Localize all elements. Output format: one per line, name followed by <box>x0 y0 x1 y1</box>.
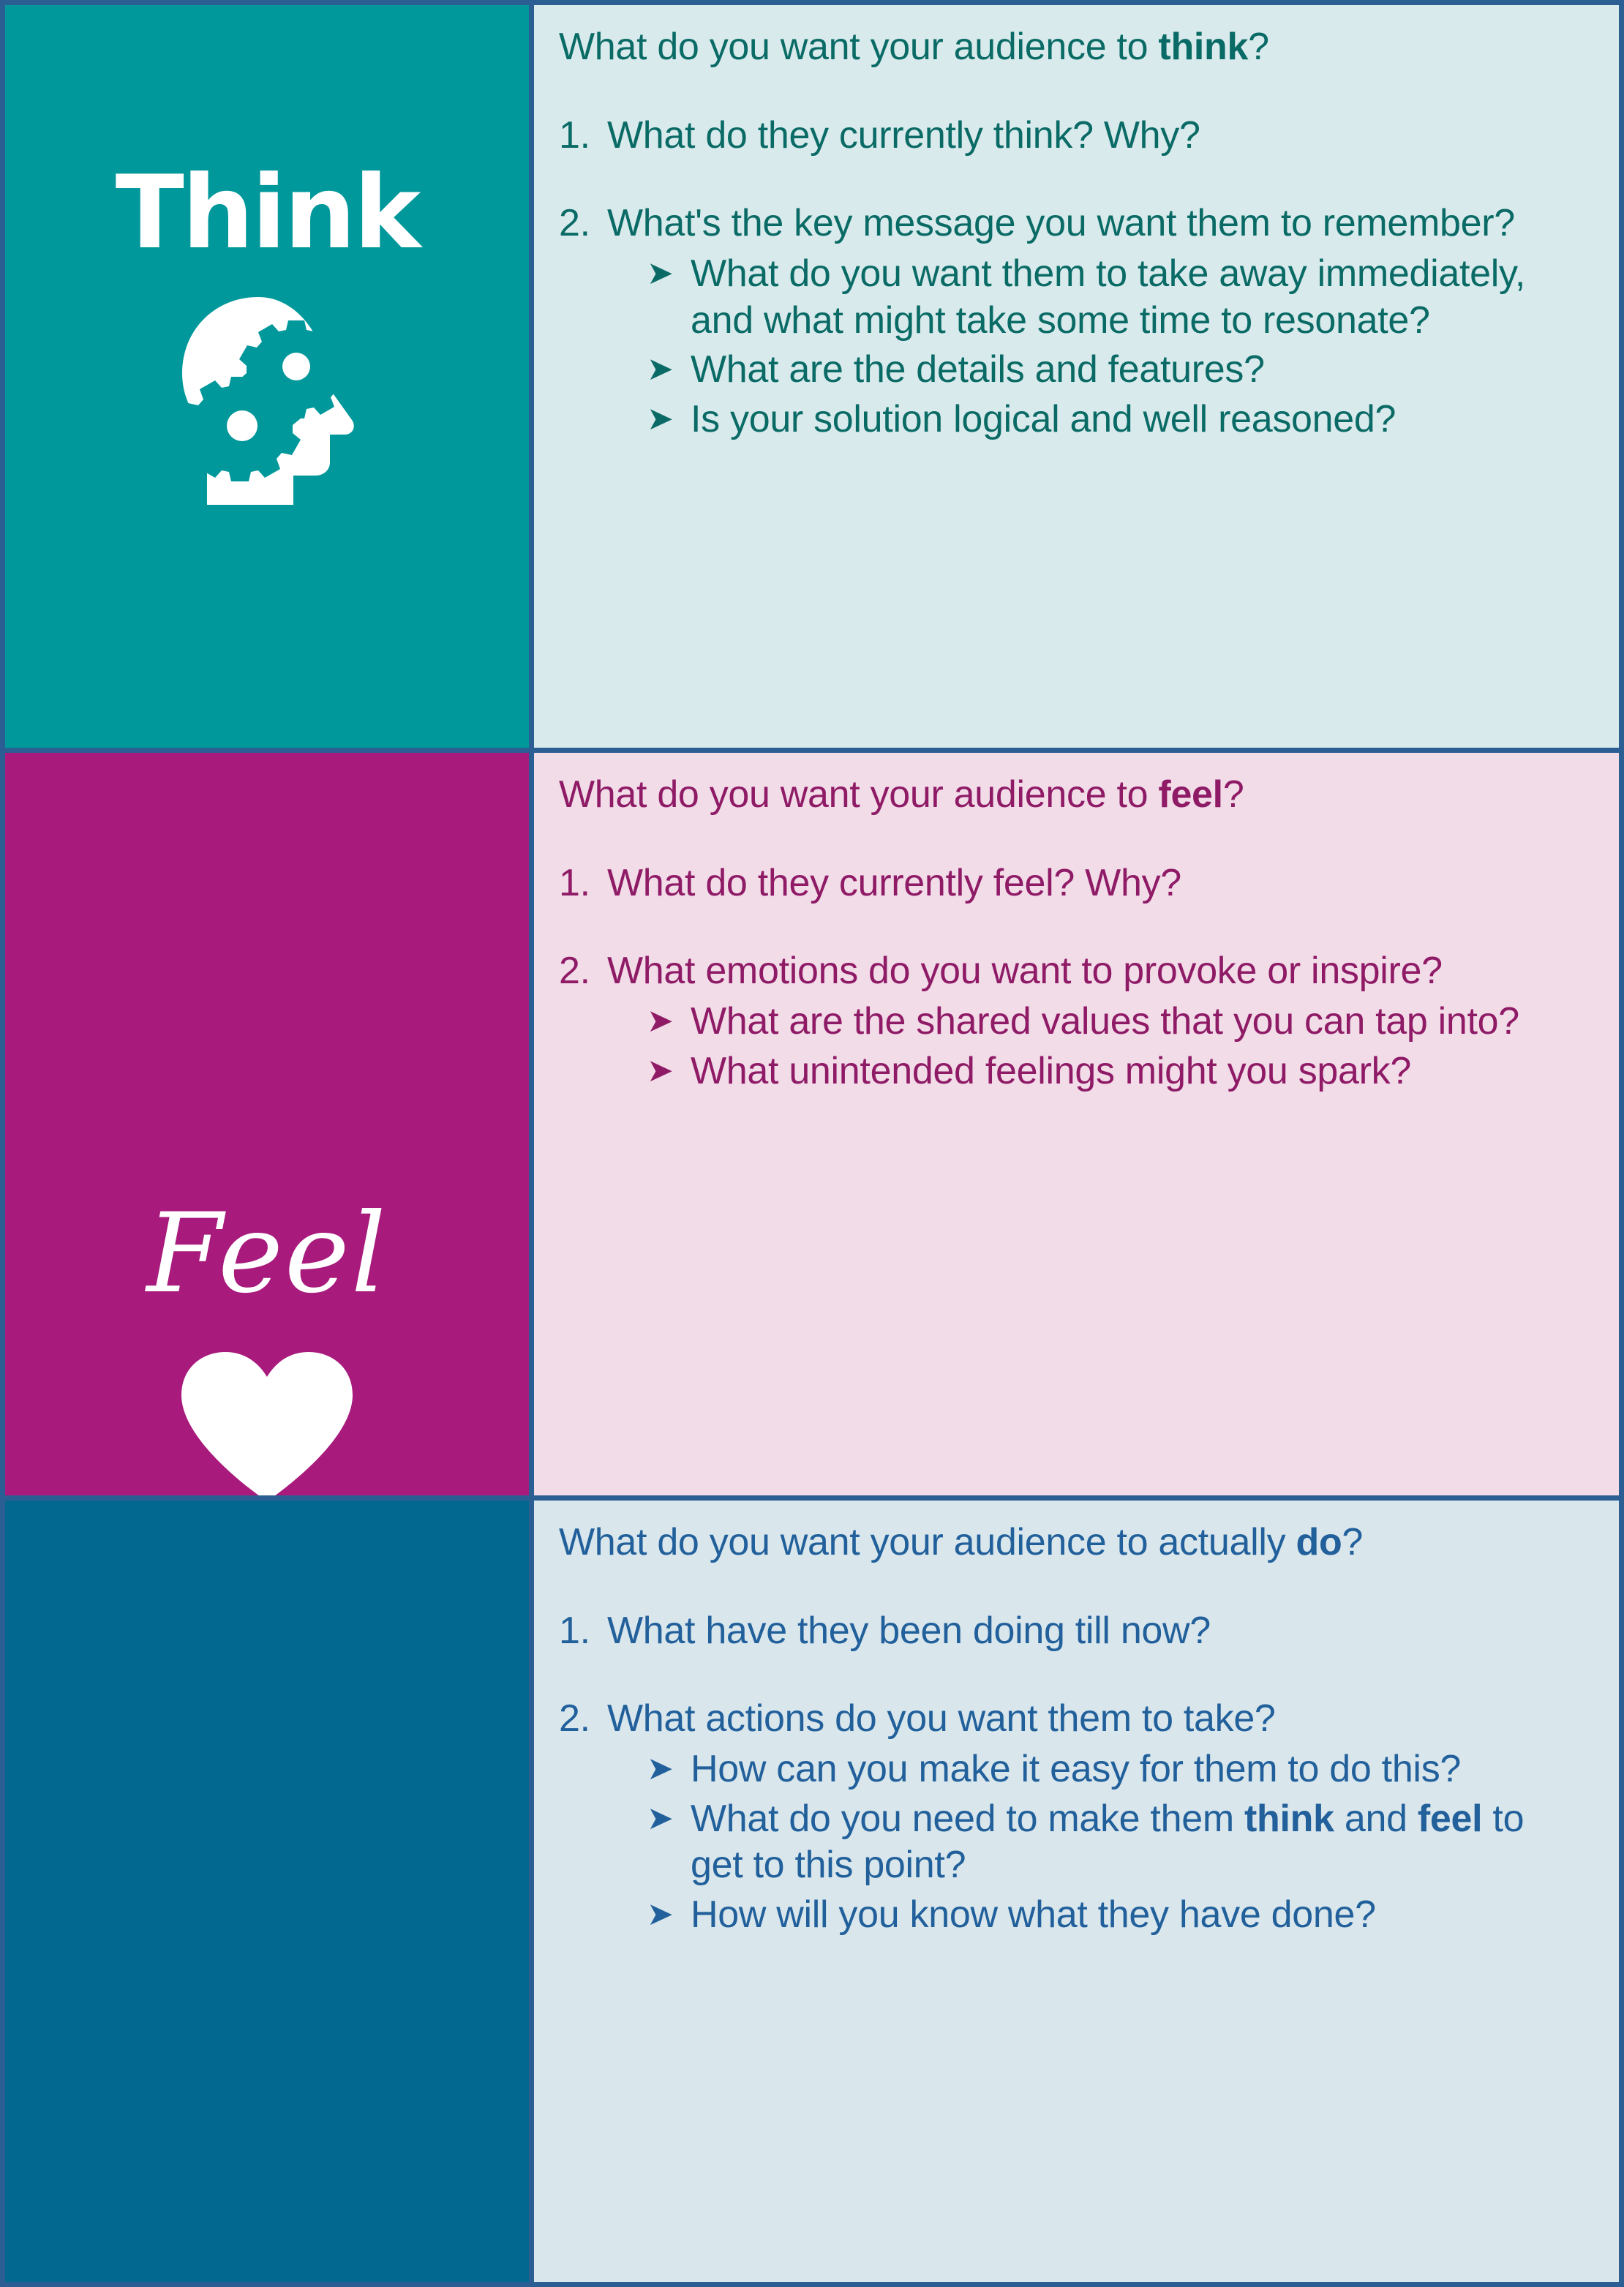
feel-lead-keyword: feel <box>1158 773 1222 816</box>
arrow-bullet-icon: ➤ <box>647 347 691 393</box>
think-question-list: 1. What do they currently think? Why? 2.… <box>559 113 1585 443</box>
list-item: 2. What actions do you want them to take… <box>559 1696 1585 1938</box>
do-item-2-number: 2. <box>559 1696 607 1938</box>
arrow-bullet-icon: ➤ <box>647 1048 691 1094</box>
feel-lead: What do you want your audience to feel? <box>559 772 1585 818</box>
arrow-bullet-icon: ➤ <box>647 1746 691 1792</box>
think-item-1-text: What do they currently think? Why? <box>607 113 1585 159</box>
think-sub-1: What do you want them to take away immed… <box>691 251 1585 344</box>
feel-item-1-number: 1. <box>559 860 607 906</box>
feel-item-1-text: What do they currently feel? Why? <box>607 860 1585 906</box>
list-item: ➤ How will you know what they have done? <box>647 1892 1585 1938</box>
feel-item-2-number: 2. <box>559 948 607 1094</box>
feel-sub-1: What are the shared values that you can … <box>691 999 1585 1045</box>
think-sub-3: Is your solution logical and well reason… <box>691 397 1585 443</box>
think-lead: What do you want your audience to think? <box>559 24 1585 70</box>
do-sub-1: How can you make it easy for them to do … <box>691 1746 1585 1792</box>
do-lead-suffix: ? <box>1342 1521 1363 1563</box>
think-item-2-number: 2. <box>559 200 607 443</box>
feel-lead-prefix: What do you want your audience to <box>559 773 1158 816</box>
feel-question-list: 1. What do they currently feel? Why? 2. … <box>559 860 1585 1094</box>
list-item: 2. What emotions do you want to provoke … <box>559 948 1585 1094</box>
think-item-2-sublist: ➤ What do you want them to take away imm… <box>607 251 1585 443</box>
think-badge: Think <box>5 5 534 748</box>
list-item: 1. What do they currently think? Why? <box>559 113 1585 159</box>
think-item-2-body: What's the key message you want them to … <box>607 200 1585 443</box>
arrow-bullet-icon: ➤ <box>647 397 691 443</box>
do-lead-prefix: What do you want your audience to actual… <box>559 1521 1296 1563</box>
section-feel: Feel What do you want your audience to f… <box>5 753 1619 1501</box>
do-question-list: 1. What have they been doing till now? 2… <box>559 1608 1585 1938</box>
arrow-bullet-icon: ➤ <box>647 251 691 344</box>
feel-badge-word: Feel <box>146 1199 387 1309</box>
section-do: Do What do you want your audience to act… <box>5 1501 1619 2282</box>
list-item: ➤ What do you need to make them think an… <box>647 1796 1585 1889</box>
feel-panel: What do you want your audience to feel? … <box>534 753 1619 1495</box>
think-lead-keyword: think <box>1158 26 1248 68</box>
list-item: 1. What do they currently feel? Why? <box>559 860 1585 906</box>
feel-item-2-sublist: ➤ What are the shared values that you ca… <box>607 999 1585 1094</box>
arrow-bullet-icon: ➤ <box>647 1892 691 1938</box>
head-with-gears-icon <box>172 291 362 514</box>
list-item: ➤ How can you make it easy for them to d… <box>647 1746 1585 1792</box>
do-item-1-number: 1. <box>559 1608 607 1654</box>
list-item: ➤ What are the shared values that you ca… <box>647 999 1585 1045</box>
section-think: Think What do you want your au <box>5 5 1619 753</box>
think-item-2-text: What's the key message you want them to … <box>607 202 1515 244</box>
think-lead-prefix: What do you want your audience to <box>559 26 1158 68</box>
do-sub-3: How will you know what they have done? <box>691 1892 1585 1938</box>
think-feel-do-poster: Think What do you want your au <box>0 0 1624 2287</box>
arrow-bullet-icon: ➤ <box>647 999 691 1045</box>
do-badge: Do <box>5 1501 534 2282</box>
think-panel: What do you want your audience to think?… <box>534 5 1619 748</box>
feel-badge: Feel <box>5 753 534 1495</box>
do-panel: What do you want your audience to actual… <box>534 1501 1619 2282</box>
list-item: ➤ Is your solution logical and well reas… <box>647 397 1585 443</box>
feel-item-2-body: What emotions do you want to provoke or … <box>607 948 1585 1094</box>
list-item: ➤ What are the details and features? <box>647 347 1585 393</box>
list-item: ➤ What unintended feelings might you spa… <box>647 1048 1585 1094</box>
feel-lead-suffix: ? <box>1223 773 1244 816</box>
think-lead-suffix: ? <box>1248 26 1269 68</box>
do-sub-2: What do you need to make them think and … <box>691 1796 1585 1889</box>
arrow-bullet-icon: ➤ <box>647 1796 691 1889</box>
feel-item-2-text: What emotions do you want to provoke or … <box>607 950 1443 992</box>
do-item-2-body: What actions do you want them to take? ➤… <box>607 1696 1585 1938</box>
list-item: 2. What's the key message you want them … <box>559 200 1585 443</box>
do-lead-keyword: do <box>1296 1521 1342 1563</box>
do-item-1-text: What have they been doing till now? <box>607 1608 1585 1654</box>
think-badge-word: Think <box>116 162 419 263</box>
think-item-1-number: 1. <box>559 113 607 159</box>
list-item: 1. What have they been doing till now? <box>559 1608 1585 1654</box>
think-sub-2: What are the details and features? <box>691 347 1585 393</box>
list-item: ➤ What do you want them to take away imm… <box>647 251 1585 344</box>
do-item-2-sublist: ➤ How can you make it easy for them to d… <box>607 1746 1585 1938</box>
do-item-2-text: What actions do you want them to take? <box>607 1697 1276 1740</box>
do-lead: What do you want your audience to actual… <box>559 1520 1585 1566</box>
feel-sub-2: What unintended feelings might you spark… <box>691 1048 1585 1094</box>
heart-icon <box>176 1349 358 1501</box>
